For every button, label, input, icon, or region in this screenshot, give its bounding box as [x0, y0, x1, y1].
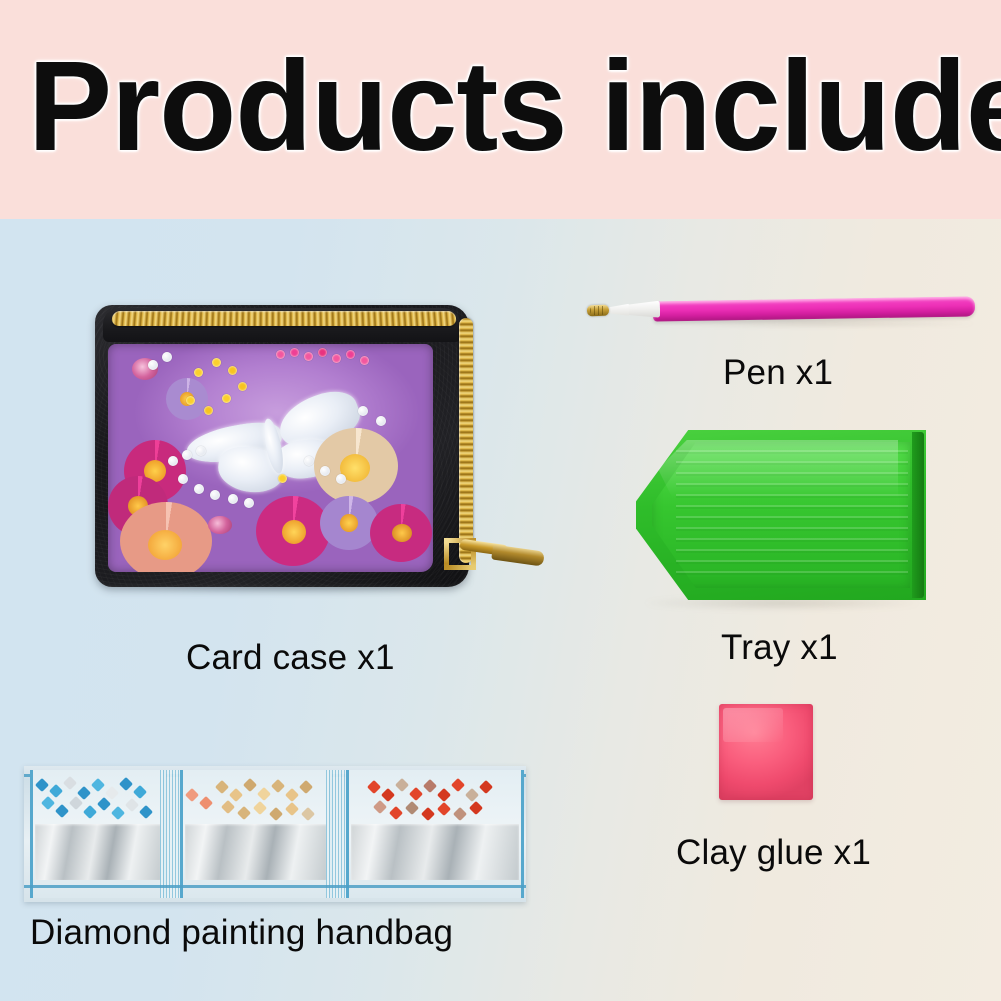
rosebud-mid — [208, 516, 232, 534]
card-case-figure — [86, 296, 486, 596]
clay-glue-highlight — [723, 708, 783, 742]
gem-clear-11 — [336, 474, 346, 484]
gem-clear-3 — [196, 446, 206, 456]
gem-cluster-pink-tr-6 — [346, 350, 355, 359]
flower-peach-center — [148, 530, 182, 560]
gem-clear-6 — [210, 490, 220, 500]
bead-bag-foil-label-red — [351, 824, 519, 880]
gem-clear-9 — [304, 456, 314, 466]
gem-clear-13 — [162, 352, 172, 362]
zipper-pull — [444, 528, 542, 572]
card-case-label: Card case x1 — [186, 638, 395, 678]
pen-tip-ridges — [590, 306, 606, 316]
gem-yellow-5 — [204, 406, 213, 415]
gem-clear-1 — [168, 456, 178, 466]
gem-clear-12 — [148, 360, 158, 370]
tray-right-edge — [912, 432, 924, 598]
gem-clear-14 — [358, 406, 368, 416]
gem-clear-7 — [228, 494, 238, 504]
product-contents-infographic: Products include — [0, 0, 1001, 1001]
gem-yellow-1 — [194, 368, 203, 377]
gem-yellow-2 — [212, 358, 221, 367]
bead-bag-divider-1 — [160, 770, 180, 898]
pen-label: Pen x1 — [723, 353, 833, 393]
tray-label: Tray x1 — [721, 628, 838, 668]
zipper-pull-tab — [491, 544, 545, 566]
bead-bag-bottom-seam — [24, 885, 526, 888]
bead-gems-red — [349, 776, 521, 824]
tray-highlight — [658, 440, 898, 498]
bead-gems-gold — [183, 776, 329, 824]
bead-bag-foil-label-gold — [185, 824, 327, 880]
gem-yellow-7 — [238, 382, 247, 391]
gem-cluster-pink-tr-3 — [304, 352, 313, 361]
pen-figure — [585, 290, 980, 330]
pen-shadow — [655, 320, 973, 327]
bead-bag-divider-2 — [326, 770, 346, 898]
zipper-teeth-top — [111, 311, 456, 326]
gem-clear-2 — [182, 450, 192, 460]
gem-yellow-4 — [186, 396, 195, 405]
diamond-bag-label: Diamond painting handbag — [30, 913, 453, 953]
bead-bag-cell-blue — [30, 770, 166, 898]
flower-lavender-center-2 — [340, 514, 358, 532]
gem-cluster-pink-tr-4 — [318, 348, 327, 357]
bead-bag-cell-red — [346, 770, 524, 898]
bead-bag-foil-label-blue — [35, 824, 161, 880]
gem-cluster-pink-tr-7 — [360, 356, 369, 365]
flower-center-3 — [282, 520, 306, 544]
diamond-bag-figure — [24, 766, 526, 902]
tray-figure — [636, 430, 932, 610]
bead-bag-cell-gold — [180, 770, 332, 898]
gem-yellow-3 — [228, 366, 237, 375]
gem-clear-8 — [244, 498, 254, 508]
gem-cluster-pink-tr-5 — [332, 354, 341, 363]
pen-barrel — [653, 296, 975, 321]
gem-clear-10 — [320, 466, 330, 476]
gem-cluster-pink-tr-1 — [276, 350, 285, 359]
flower-pink-right-center — [392, 524, 412, 542]
clay-glue-label: Clay glue x1 — [676, 833, 871, 873]
gem-clear-5 — [194, 484, 204, 494]
gem-clear-15 — [376, 416, 386, 426]
bead-gems-blue — [33, 776, 163, 824]
gem-clear-4 — [178, 474, 188, 484]
header-band: Products include — [0, 0, 1001, 219]
clay-glue-figure — [719, 704, 817, 806]
zipper-teeth-side — [459, 318, 473, 563]
gem-yellow-8 — [278, 474, 287, 483]
wallet-diamond-art-panel — [108, 344, 433, 572]
gem-yellow-6 — [222, 394, 231, 403]
page-title: Products include — [28, 36, 964, 178]
gem-cluster-pink-tr-2 — [290, 348, 299, 357]
